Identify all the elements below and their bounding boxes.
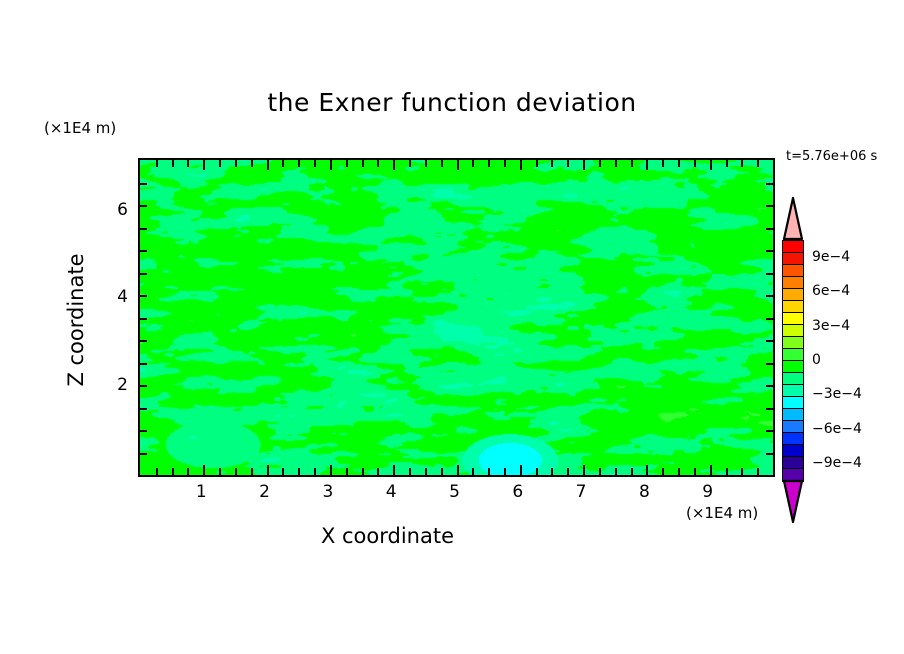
x-tick: [520, 465, 522, 475]
x-tick-top: [472, 160, 474, 167]
y-tick-label: 6: [88, 200, 128, 220]
contour-field: [140, 160, 773, 475]
x-tick-top: [156, 160, 158, 167]
x-tick: [235, 468, 237, 475]
x-tick: [757, 468, 759, 475]
page-title: the Exner function deviation: [0, 88, 904, 117]
y-tick: [140, 273, 147, 275]
x-tick: [330, 465, 332, 475]
y-tick: [140, 408, 147, 410]
colorbar-tick-label: 0: [812, 352, 821, 368]
x-tick: [172, 468, 174, 475]
figure-canvas: the Exner function deviation (×1E4 m) (×…: [0, 0, 904, 654]
x-tick-top: [457, 160, 459, 170]
x-tick-top: [504, 160, 506, 167]
colorbar-over-arrow: [782, 196, 804, 241]
y-axis-title: Z coordinate: [64, 220, 88, 420]
x-tick-top: [377, 160, 379, 167]
y-tick: [140, 340, 147, 342]
x-tick-top: [757, 160, 759, 167]
y-tick-right: [766, 205, 773, 207]
x-tick-label: 3: [308, 482, 348, 502]
x-tick-top: [219, 160, 221, 167]
x-tick-label: 6: [498, 482, 538, 502]
x-tick: [536, 468, 538, 475]
x-tick-top: [551, 160, 553, 167]
y-tick-right: [766, 183, 773, 185]
x-tick: [583, 465, 585, 475]
x-tick-top: [599, 160, 601, 167]
x-tick: [457, 465, 459, 475]
x-tick: [615, 468, 617, 475]
x-tick-top: [567, 160, 569, 167]
x-tick: [441, 468, 443, 475]
time-annotation: t=5.76e+06 s: [786, 149, 877, 164]
colorbar-tick-label: 6e−4: [812, 283, 850, 299]
x-tick: [488, 468, 490, 475]
x-tick: [599, 468, 601, 475]
x-tick-top: [346, 160, 348, 167]
x-tick: [346, 468, 348, 475]
x-tick-top: [203, 160, 205, 170]
y-tick: [140, 295, 147, 297]
x-tick: [267, 465, 269, 475]
x-tick-top: [362, 160, 364, 167]
x-tick-top: [441, 160, 443, 167]
x-tick-top: [488, 160, 490, 167]
x-tick-top: [314, 160, 316, 167]
y-tick-right: [766, 228, 773, 230]
x-tick: [551, 468, 553, 475]
x-tick: [646, 465, 648, 475]
colorbar-under-arrow: [782, 479, 804, 524]
x-tick: [741, 468, 743, 475]
y-tick: [140, 453, 147, 455]
y-tick-right: [766, 430, 773, 432]
y-tick: [140, 363, 147, 365]
y-tick-label: 2: [88, 375, 128, 395]
colorbar-tick-label: −3e−4: [812, 386, 862, 402]
x-tick-label: 1: [181, 482, 221, 502]
x-tick-top: [425, 160, 427, 167]
x-tick-top: [662, 160, 664, 167]
y-tick: [140, 205, 147, 207]
x-tick-label: 8: [624, 482, 664, 502]
x-axis-unit-label: (×1E4 m): [686, 504, 758, 522]
x-tick-label: 2: [245, 482, 285, 502]
y-tick-label: 4: [88, 287, 128, 307]
y-tick: [140, 228, 147, 230]
x-tick-top: [187, 160, 189, 167]
x-tick: [472, 468, 474, 475]
x-tick: [314, 468, 316, 475]
y-axis-unit-label: (×1E4 m): [44, 119, 116, 137]
x-tick: [156, 468, 158, 475]
x-tick: [187, 468, 189, 475]
x-tick-top: [678, 160, 680, 167]
y-tick-right: [766, 295, 773, 297]
y-tick: [140, 318, 147, 320]
x-tick-top: [235, 160, 237, 167]
x-tick: [662, 468, 664, 475]
x-tick: [362, 468, 364, 475]
colorbar-tick-label: −6e−4: [812, 421, 862, 437]
y-tick: [140, 183, 147, 185]
x-tick: [678, 468, 680, 475]
x-tick: [726, 468, 728, 475]
x-tick-top: [251, 160, 253, 167]
x-tick-top: [726, 160, 728, 167]
x-tick-top: [330, 160, 332, 170]
x-tick: [425, 468, 427, 475]
y-tick-right: [766, 273, 773, 275]
x-tick: [251, 468, 253, 475]
y-tick-right: [766, 453, 773, 455]
x-tick-label: 5: [435, 482, 475, 502]
y-tick-right: [766, 385, 773, 387]
y-tick-right: [766, 250, 773, 252]
x-tick: [282, 468, 284, 475]
x-tick: [631, 468, 633, 475]
y-tick-right: [766, 318, 773, 320]
x-tick-top: [393, 160, 395, 170]
colorbar-tick-label: −9e−4: [812, 455, 862, 471]
y-tick: [140, 430, 147, 432]
x-tick-top: [409, 160, 411, 167]
colorbar-tick-label: 9e−4: [812, 249, 850, 265]
x-tick: [409, 468, 411, 475]
x-tick-top: [583, 160, 585, 170]
x-tick: [393, 465, 395, 475]
x-tick: [567, 468, 569, 475]
x-tick-top: [520, 160, 522, 170]
x-tick-top: [710, 160, 712, 170]
x-tick-label: 4: [371, 482, 411, 502]
x-tick-top: [646, 160, 648, 170]
y-tick: [140, 250, 147, 252]
y-tick-right: [766, 340, 773, 342]
x-tick-label: 9: [688, 482, 728, 502]
x-tick-top: [694, 160, 696, 167]
x-tick-top: [267, 160, 269, 170]
x-tick: [694, 468, 696, 475]
x-tick: [504, 468, 506, 475]
x-tick-top: [298, 160, 300, 167]
x-tick: [219, 468, 221, 475]
x-axis-title: X coordinate: [0, 524, 775, 548]
colorbar: [782, 240, 804, 480]
x-tick: [377, 468, 379, 475]
x-tick: [298, 468, 300, 475]
x-tick: [203, 465, 205, 475]
x-tick: [710, 465, 712, 475]
colorbar-tick-label: 3e−4: [812, 318, 850, 334]
x-tick-top: [631, 160, 633, 167]
x-tick-top: [172, 160, 174, 167]
x-tick-top: [536, 160, 538, 167]
x-tick-top: [282, 160, 284, 167]
y-tick: [140, 385, 147, 387]
x-tick-label: 7: [561, 482, 601, 502]
y-tick-right: [766, 408, 773, 410]
contour-plot-area: [138, 158, 775, 477]
x-tick-top: [615, 160, 617, 167]
x-tick-top: [741, 160, 743, 167]
y-tick-right: [766, 363, 773, 365]
